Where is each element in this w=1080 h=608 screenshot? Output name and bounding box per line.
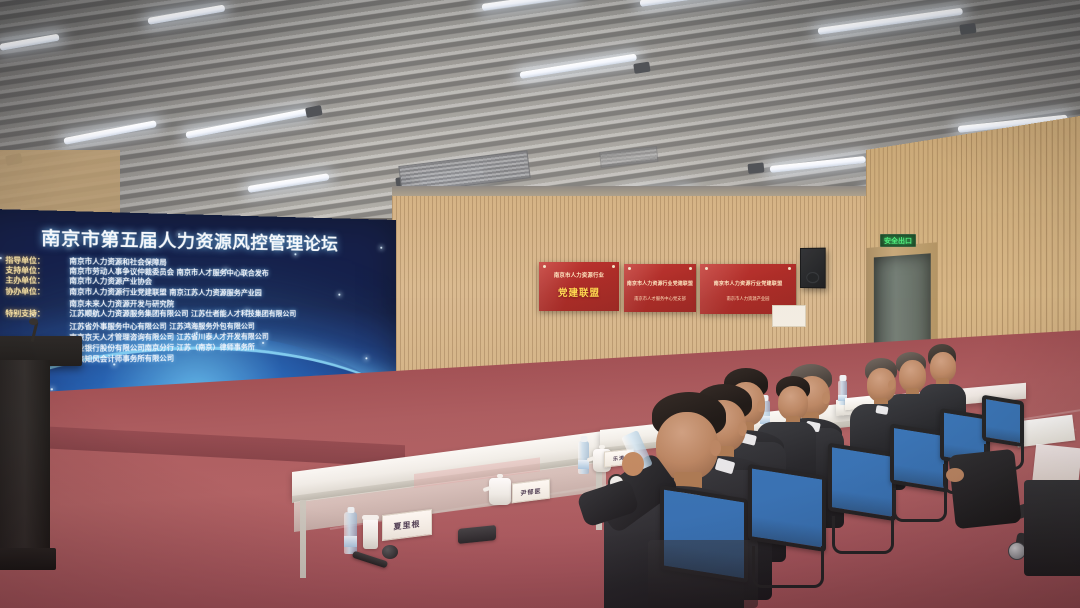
podium-base <box>0 548 56 570</box>
chair-6-back[interactable] <box>982 395 1024 448</box>
cup-lid-1 <box>362 515 379 520</box>
water-bottle-1 <box>344 512 357 554</box>
podium-microphone-head <box>29 318 38 325</box>
tea-cup-1 <box>363 519 378 549</box>
attendee-4-head <box>778 386 808 420</box>
exit-sign: 安全出口 <box>880 234 916 247</box>
nameplate-front-text: 夏里根 <box>394 518 421 532</box>
special-support-row: 特别支持： 江苏顺航人力资源服务集团有限公司 江苏仕者能人才科技集团有限公司 <box>5 310 384 320</box>
banner-left: 南京市人力资源行业 党建联盟 <box>539 262 619 311</box>
credit-value-3: 南京市人力资源行业党建联盟 南京江苏人力资源服务产业园 <box>69 287 261 298</box>
attendee-3-ear <box>757 400 765 412</box>
credit-value-2: 南京市人力资源产业协会 <box>69 277 152 287</box>
banner-right-top-text: 南京市人力资源行业党建联盟 <box>700 280 796 287</box>
bottle-label-1 <box>344 536 357 547</box>
credit-label-2: 主办单位： <box>5 276 69 286</box>
teapot-knob-1 <box>497 474 503 478</box>
bottle-cap-4 <box>839 375 846 381</box>
podium-column <box>0 360 50 560</box>
attendee-6-ear <box>888 380 895 390</box>
chair-2-frame <box>752 546 824 588</box>
bottle-cap-2 <box>580 436 587 442</box>
credit-label-1: 支持单位： <box>5 266 69 276</box>
teapot-knob-2 <box>599 445 605 449</box>
ceiling-light-endcap-5 <box>747 162 764 174</box>
attendee-right-hand <box>946 468 964 482</box>
special-support-label: 特别支持： <box>5 310 69 320</box>
wall-notice-sheet <box>772 305 806 327</box>
credit-continuation: 南京未来人力资源开发与研究院 <box>5 297 384 309</box>
banner-left-top-text: 南京市人力资源行业 <box>539 271 619 279</box>
bottle-cap-1 <box>347 507 354 513</box>
caster-chair-body <box>1024 480 1080 576</box>
chair-1-shadow <box>648 540 758 608</box>
credit-label-0: 指导单位： <box>5 256 69 266</box>
credit-label-3: 协办单位： <box>5 287 69 297</box>
table-microphone-head <box>382 545 398 559</box>
front-table-leg-left <box>300 500 306 578</box>
nameplate-mid-text: 尹郁医 <box>520 485 541 497</box>
attendee-5-ear <box>822 392 830 404</box>
special-support-line-0: 江苏顺航人力资源服务集团有限公司 江苏仕者能人才科技集团有限公司 <box>69 310 296 319</box>
exit-sign-text: 安全出口 <box>884 236 912 246</box>
chair-3-frame <box>832 516 894 554</box>
attendee-1-ear <box>710 440 721 456</box>
banner-left-main-text: 党建联盟 <box>539 285 619 299</box>
attendee-legs <box>948 449 1021 529</box>
banner-right-sub-text: 南京市人力资源产业园 <box>700 296 796 302</box>
chair-4-frame <box>893 488 947 522</box>
conference-hall-photo: 南京市人力资源行业 党建联盟 南京市人力资源行业党建联盟 南京市人才服务中心党支… <box>0 0 1080 608</box>
teapot-1 <box>489 478 511 505</box>
banner-center-sub-text: 南京市人才服务中心党支部 <box>624 296 696 302</box>
banner-center: 南京市人力资源行业党建联盟 南京市人才服务中心党支部 <box>624 264 696 312</box>
banner-center-top-text: 南京市人力资源行业党建联盟 <box>624 280 696 287</box>
wall-speaker <box>800 248 826 289</box>
chair-2-back[interactable] <box>748 464 826 552</box>
credit-row-3: 协办单位： 南京市人力资源行业党建联盟 南京江苏人力资源服务产业园 <box>5 287 384 299</box>
attendee-2-ear <box>738 422 747 436</box>
chair-3-back[interactable] <box>828 443 896 522</box>
attendee-1-hand <box>622 452 644 476</box>
